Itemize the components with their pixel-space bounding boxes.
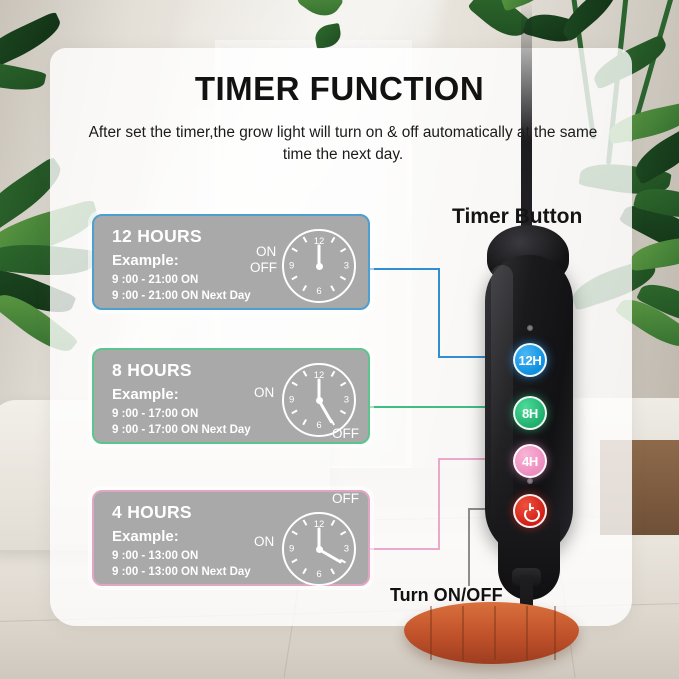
- clock-on-label: ON: [254, 385, 274, 400]
- page-title: TIMER FUNCTION: [0, 70, 679, 108]
- controller-highlight: [491, 265, 513, 535]
- clock-numeral-9: 9: [289, 544, 294, 554]
- card-example-label: Example:: [112, 528, 179, 545]
- clock-numeral-3: 3: [344, 261, 349, 271]
- clock-off-label: OFF: [332, 491, 359, 506]
- card-schedule-line-2: 9 :00 - 21:00 ON Next Day: [112, 290, 251, 302]
- connector-12h-segment-h1: [370, 268, 440, 270]
- card-title: 12 HOURS: [112, 226, 202, 247]
- card-schedule-line-2: 9 :00 - 13:00 ON Next Day: [112, 566, 251, 578]
- card-schedule-line-1: 9 :00 - 17:00 ON: [112, 408, 198, 420]
- clock-face-8h: 12 3 6 9: [282, 363, 356, 437]
- clock-tick: [292, 559, 298, 563]
- status-led-bottom: [527, 478, 533, 484]
- clock-tick: [292, 382, 298, 386]
- card-example-label: Example:: [112, 386, 179, 403]
- power-cable-upper: [521, 0, 532, 235]
- card-12-hours[interactable]: 12 HOURS Example: 9 :00 - 21:00 ON 9 :00…: [92, 214, 370, 310]
- power-button[interactable]: [513, 494, 547, 528]
- clock-tick: [331, 237, 335, 243]
- clock-tick: [340, 382, 346, 386]
- clock-tick: [331, 371, 335, 377]
- clock-tick: [340, 276, 346, 280]
- clock-numeral-9: 9: [289, 261, 294, 271]
- clock-tick: [331, 568, 335, 574]
- clock-tick: [303, 568, 307, 574]
- clock-numeral-6: 6: [316, 570, 321, 580]
- card-title: 4 HOURS: [112, 502, 192, 523]
- clock-tick: [331, 285, 335, 291]
- clock-tick: [340, 531, 346, 535]
- card-example-label: Example:: [112, 252, 179, 269]
- clock-tick: [292, 248, 298, 252]
- clock-tick: [292, 276, 298, 280]
- clock-on-label: ON: [256, 244, 276, 259]
- card-8-hours[interactable]: 8 HOURS Example: 9 :00 - 17:00 ON 9 :00 …: [92, 348, 370, 444]
- clock-numeral-9: 9: [289, 395, 294, 405]
- 12h-button-label: 12H: [519, 353, 542, 368]
- 8h-button[interactable]: 8H: [513, 396, 547, 430]
- infographic-stage: TIMER FUNCTION After set the timer,the g…: [0, 0, 679, 679]
- connector-power-segment-v: [468, 508, 470, 586]
- clock-tick: [303, 419, 307, 425]
- clock-tick: [292, 410, 298, 414]
- clock-center-hub: [316, 546, 323, 553]
- clock-numeral-6: 6: [316, 287, 321, 297]
- connector-4h-segment-v: [438, 458, 440, 550]
- timer-button-callout: Timer Button: [452, 205, 582, 229]
- power-icon: [523, 504, 537, 518]
- clock-tick: [303, 371, 307, 377]
- card-schedule-line-1: 9 :00 - 13:00 ON: [112, 550, 198, 562]
- clock-off-label: OFF: [250, 260, 277, 275]
- clock-tick: [303, 285, 307, 291]
- clock-tick: [331, 419, 335, 425]
- card-title: 8 HOURS: [112, 360, 192, 381]
- clock-center-hub: [316, 397, 323, 404]
- clock-tick: [340, 410, 346, 414]
- 4h-button-label: 4H: [522, 454, 538, 469]
- clock-tick: [331, 520, 335, 526]
- card-schedule-line-1: 9 :00 - 21:00 ON: [112, 274, 198, 286]
- clock-center-hub: [316, 263, 323, 270]
- 12h-button[interactable]: 12H: [513, 343, 547, 377]
- power-callout-prefix: Turn: [390, 585, 429, 605]
- card-schedule-line-2: 9 :00 - 17:00 ON Next Day: [112, 424, 251, 436]
- clock-numeral-3: 3: [344, 544, 349, 554]
- clock-tick: [340, 248, 346, 252]
- 8h-button-label: 8H: [522, 406, 538, 421]
- connector-12h-segment-v: [438, 268, 440, 358]
- 4h-button[interactable]: 4H: [513, 444, 547, 478]
- clock-face-4h: 12 3 6 9: [282, 512, 356, 586]
- status-led-top: [527, 325, 533, 331]
- card-4-hours[interactable]: 4 HOURS Example: 9 :00 - 13:00 ON 9 :00 …: [92, 490, 370, 586]
- clock-numeral-3: 3: [344, 395, 349, 405]
- clock-on-label: ON: [254, 534, 274, 549]
- clock-face-12h: 12 3 6 9: [282, 229, 356, 303]
- connector-4h-segment-h1: [370, 548, 440, 550]
- clock-numeral-6: 6: [316, 421, 321, 431]
- clock-tick: [303, 237, 307, 243]
- clock-tick: [303, 520, 307, 526]
- clock-tick: [292, 531, 298, 535]
